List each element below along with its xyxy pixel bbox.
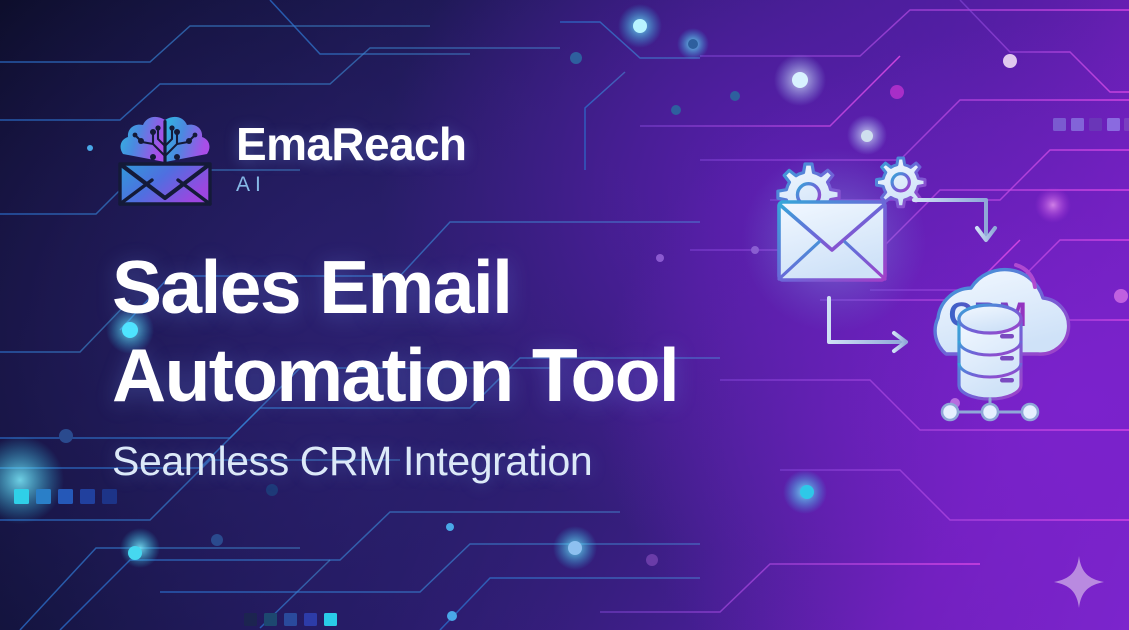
crm-integration-illustration: CRM	[716, 140, 1108, 432]
brand-name: EmaReach	[236, 121, 466, 167]
hero-text-block: Sales Email Automation Tool Seamless CRM…	[112, 244, 792, 485]
network-nodes-icon	[942, 399, 1038, 420]
hero-banner: EmaReach AI Sales Email Automation Tool …	[0, 0, 1129, 630]
page-subtitle: Seamless CRM Integration	[112, 438, 792, 485]
database-icon	[959, 305, 1021, 399]
arrow-right-down-icon	[914, 200, 995, 240]
envelope-icon	[779, 202, 885, 280]
page-title-line-2: Automation Tool	[112, 332, 792, 420]
brain-envelope-icon	[112, 112, 218, 208]
brand-sub-label: AI	[236, 174, 466, 195]
brand-logo: EmaReach AI	[112, 112, 466, 208]
sparkle-icon	[1054, 556, 1104, 608]
page-title-line-1: Sales Email	[112, 244, 792, 332]
